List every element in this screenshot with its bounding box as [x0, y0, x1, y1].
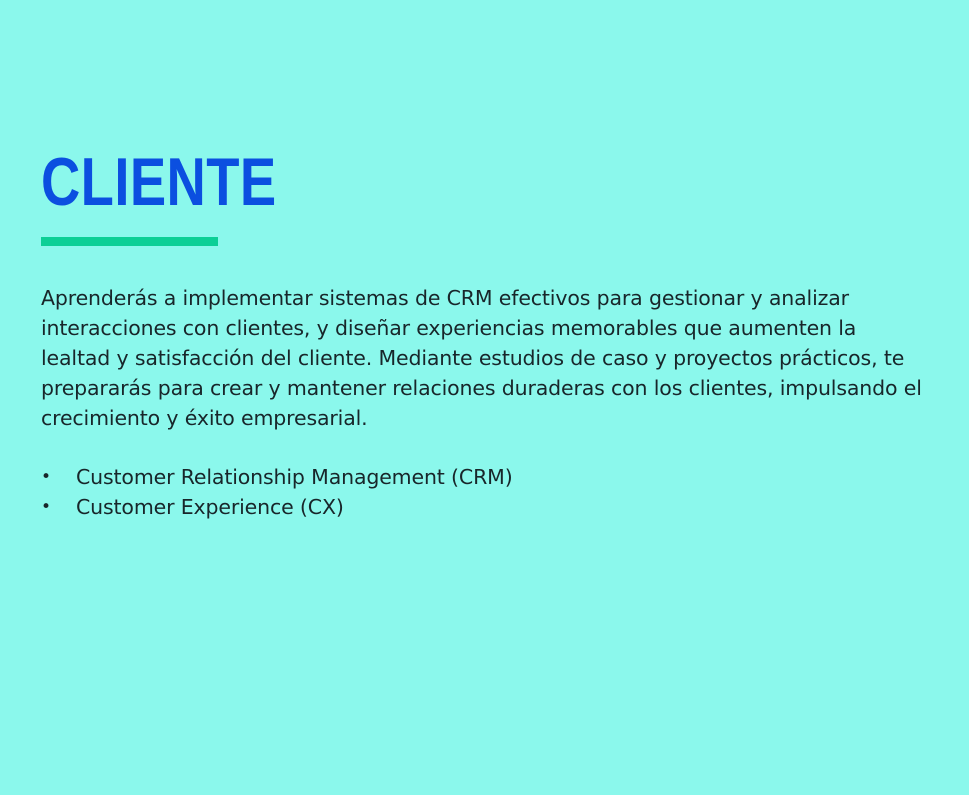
slide-content: CLIENTE Aprenderás a implementar sistema… [41, 148, 929, 522]
page-title: CLIENTE [41, 148, 751, 216]
list-item-label: Customer Experience (CX) [76, 492, 929, 522]
body-paragraph: Aprenderás a implementar sistemas de CRM… [41, 246, 929, 433]
list-item-label: Customer Relationship Management (CRM) [76, 462, 929, 492]
list-item: • Customer Experience (CX) [41, 492, 929, 522]
slide-canvas: CLIENTE Aprenderás a implementar sistema… [0, 0, 969, 795]
bullet-point-icon: • [41, 462, 76, 492]
title-underline-rule [41, 237, 218, 246]
topic-list: • Customer Relationship Management (CRM)… [41, 433, 929, 522]
bullet-point-icon: • [41, 492, 76, 522]
list-item: • Customer Relationship Management (CRM) [41, 462, 929, 492]
